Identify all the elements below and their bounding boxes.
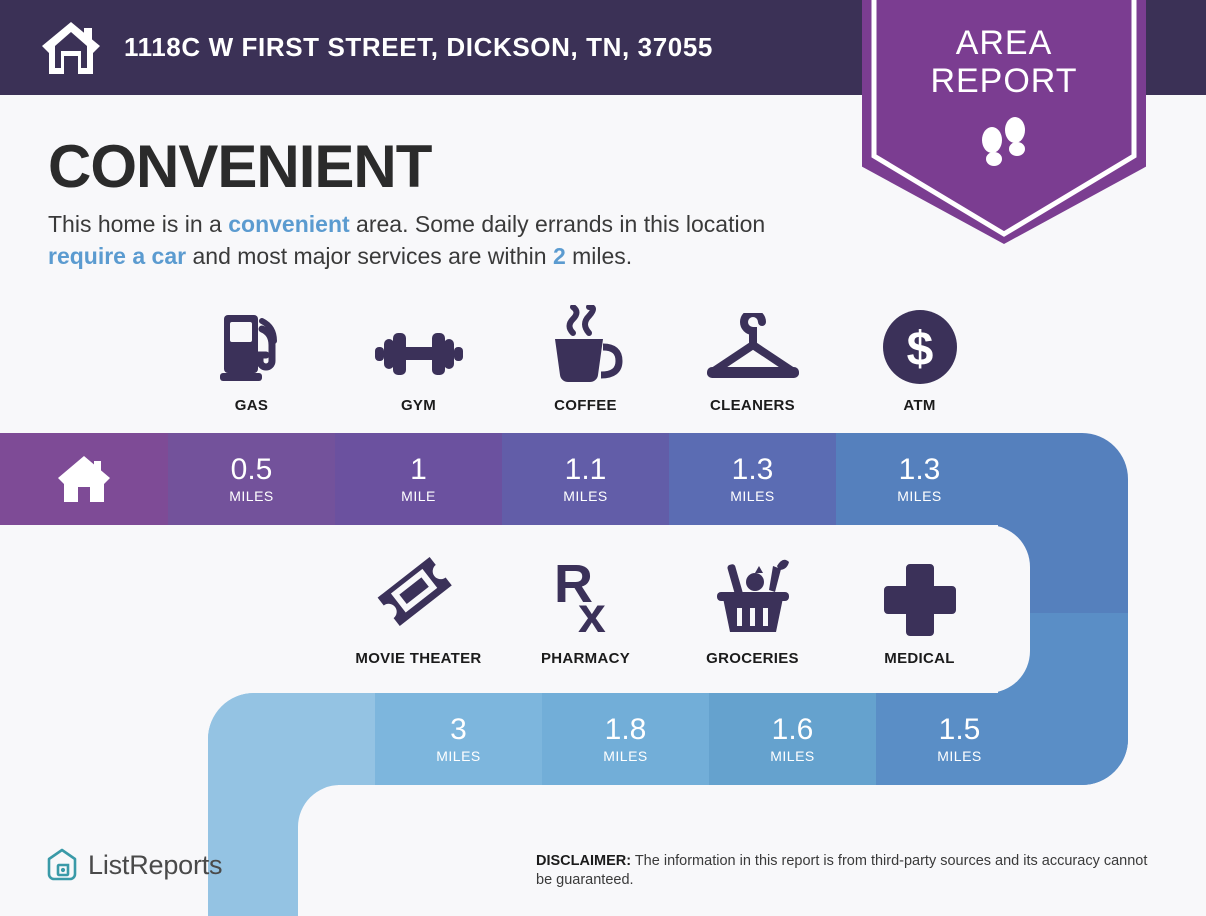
disclaimer: DISCLAIMER: The information in this repo… (536, 852, 1161, 890)
dumbbell-icon (371, 305, 467, 385)
summary-text: This home is in a convenient area. Some … (48, 208, 848, 272)
distance-unit: MILES (563, 488, 608, 504)
distance-cell-movie-theater: 3 MILES (375, 693, 542, 785)
ticket-icon (376, 558, 462, 638)
hanger-icon (701, 305, 805, 385)
distance-value: 1 (410, 454, 427, 486)
distance-cell-gas: 0.5 MILES (168, 433, 335, 525)
amenity-medical: MEDICAL (836, 558, 1003, 667)
property-address: 1118C W FIRST STREET, DICKSON, TN, 37055 (124, 32, 713, 63)
svg-text:x: x (578, 587, 606, 638)
summary-highlight-require-a-car: require a car (48, 243, 186, 269)
distance-cell-medical: 1.5 MILES (876, 693, 1043, 785)
disclaimer-label: DISCLAIMER: (536, 853, 631, 869)
distance-value: 1.6 (772, 714, 814, 746)
listreports-wordmark: ListReports (88, 850, 222, 881)
amenity-atm: $ ATM (836, 305, 1003, 414)
summary-part-1: This home is in a (48, 211, 228, 237)
area-report-badge: AREA REPORT (862, 0, 1146, 244)
amenity-label: MOVIE THEATER (355, 650, 481, 667)
distance-unit: MILES (436, 748, 481, 764)
summary-part-4: miles. (566, 243, 632, 269)
distance-value: 1.5 (939, 714, 981, 746)
svg-text:$: $ (906, 323, 933, 376)
distance-unit: MILES (730, 488, 775, 504)
distance-cell-atm: 1.3 MILES (836, 433, 1003, 525)
dollar-circle-icon: $ (882, 305, 958, 385)
amenity-label: MEDICAL (884, 650, 954, 667)
amenity-groceries: GROCERIES (669, 558, 836, 667)
distance-value: 1.3 (732, 454, 774, 486)
summary-part-3: and most major services are within (186, 243, 553, 269)
amenity-icon-row-1: GAS GYM (168, 305, 1168, 414)
summary-highlight-convenient: convenient (228, 211, 349, 237)
home-icon (40, 20, 102, 76)
gas-pump-icon (216, 305, 288, 385)
distance-cell-cleaners: 1.3 MILES (669, 433, 836, 525)
distance-cell-coffee: 1.1 MILES (502, 433, 669, 525)
listreports-house-icon (46, 848, 78, 882)
distance-value: 1.1 (565, 454, 607, 486)
footprints-icon (973, 114, 1035, 176)
distance-unit: MILES (897, 488, 942, 504)
badge-title-line2: REPORT (930, 62, 1077, 100)
distance-unit: MILE (401, 488, 436, 504)
page-title: CONVENIENT (48, 132, 431, 201)
amenity-label: COFFEE (554, 397, 617, 414)
grocery-basket-icon (711, 558, 795, 638)
area-report-page: 1118C W FIRST STREET, DICKSON, TN, 37055… (0, 0, 1206, 916)
badge-title: AREA REPORT (930, 24, 1077, 100)
listreports-logo: ListReports (46, 848, 222, 882)
amenity-pharmacy: R x PHARMACY (502, 558, 669, 667)
distance-unit: MILES (770, 748, 815, 764)
amenity-movie-theater: MOVIE THEATER (335, 558, 502, 667)
badge-title-line1: AREA (930, 24, 1077, 62)
distance-value: 3 (450, 714, 467, 746)
medical-cross-icon (882, 558, 958, 638)
distance-unit: MILES (603, 748, 648, 764)
amenity-icon-row-2: MOVIE THEATER R x PHARMACY (335, 558, 1168, 667)
amenity-cleaners: CLEANERS (669, 305, 836, 414)
distance-unit: MILES (229, 488, 274, 504)
amenity-gym: GYM (335, 305, 502, 414)
amenity-label: PHARMACY (541, 650, 630, 667)
distance-cell-gym: 1 MILE (335, 433, 502, 525)
distance-value: 0.5 (231, 454, 273, 486)
prescription-rx-icon: R x (550, 558, 622, 638)
amenity-coffee: COFFEE (502, 305, 669, 414)
amenity-label: GAS (235, 397, 268, 414)
amenity-label: ATM (903, 397, 935, 414)
amenity-gas: GAS (168, 305, 335, 414)
home-icon (56, 454, 112, 504)
amenity-label: CLEANERS (710, 397, 795, 414)
amenity-label: GROCERIES (706, 650, 799, 667)
summary-highlight-miles: 2 (553, 243, 566, 269)
coffee-cup-icon (547, 305, 625, 385)
distance-bar-row-2: 3 MILES 1.8 MILES 1.6 MILES 1.5 MILES (208, 693, 1128, 785)
distance-value: 1.8 (605, 714, 647, 746)
summary-part-2: area. Some daily errands in this locatio… (350, 211, 766, 237)
home-marker-cell (0, 433, 168, 525)
distance-value: 1.3 (899, 454, 941, 486)
amenity-label: GYM (401, 397, 436, 414)
bar-notch-left (298, 785, 478, 916)
distance-cell-pharmacy: 1.8 MILES (542, 693, 709, 785)
distance-bar-row-1: 0.5 MILES 1 MILE 1.1 MILES 1.3 MILES 1.3… (0, 433, 1128, 525)
distance-unit: MILES (937, 748, 982, 764)
distance-cell-groceries: 1.6 MILES (709, 693, 876, 785)
